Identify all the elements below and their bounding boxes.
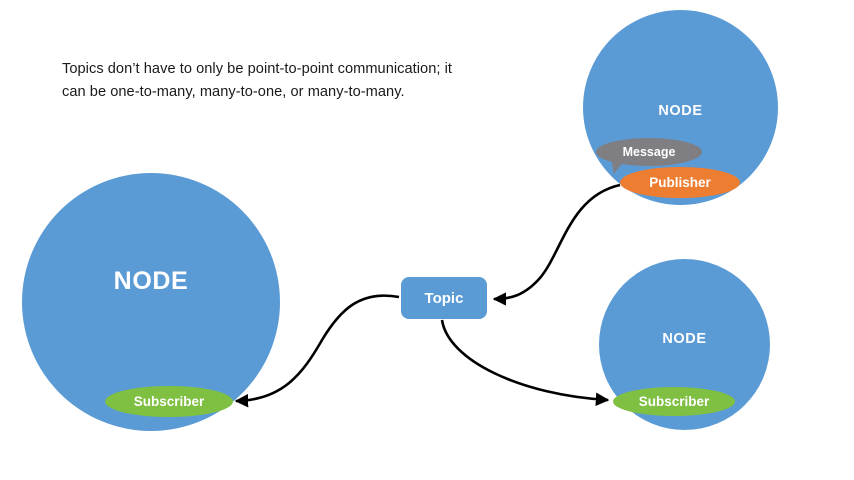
topic-box[interactable]: Topic bbox=[401, 277, 487, 319]
diagram-canvas: Topics don’t have to only be point-to-po… bbox=[0, 0, 854, 480]
node-left-label: NODE bbox=[22, 267, 280, 296]
node-bottom-right-label: NODE bbox=[599, 331, 770, 347]
node-top-right-label: NODE bbox=[583, 103, 778, 119]
message-bubble[interactable]: Message bbox=[596, 138, 702, 166]
subscriber-node-left[interactable]: Subscriber bbox=[105, 386, 233, 417]
caption-text: Topics don’t have to only be point-to-po… bbox=[62, 58, 482, 103]
publisher-node-top-right[interactable]: Publisher bbox=[620, 167, 740, 198]
connector-topic-to-bottom-right-subscriber bbox=[442, 320, 608, 400]
subscriber-node-bottom-right[interactable]: Subscriber bbox=[613, 387, 735, 416]
connector-publisher-to-topic bbox=[494, 185, 620, 299]
